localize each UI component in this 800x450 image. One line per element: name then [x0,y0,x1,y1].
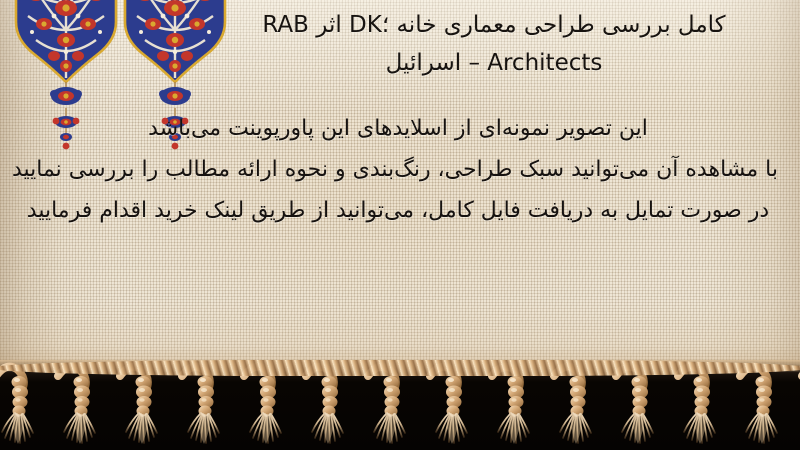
slide-canvas: کامل بررسی طراحی معماری خانه ؛DK اثر RAB… [0,0,800,450]
slide-title-rtl-a: کامل بررسی طراحی معماری خانه ؛ [382,12,726,38]
body-line: این تصویر نمونه‌ای از اسلایدهای این پاور… [18,108,778,149]
slide-title-latin-rab: RAB [262,12,309,38]
slide-body: این تصویر نمونه‌ای از اسلایدهای این پاور… [18,108,778,231]
slide-title-latin-architects: Architects [487,50,602,76]
carpet-fringe [0,360,800,450]
text-layer: کامل بررسی طراحی معماری خانه ؛DK اثر RAB… [0,0,800,372]
carpet-selvedge-rope [0,360,800,376]
slide-title-rtl-country: اسرائیل [386,50,462,76]
slide-title-rtl-b: اثر [309,12,349,38]
body-line: با مشاهده آن می‌توانید سبک طراحی، رنگ‌بن… [18,149,778,190]
slide-title-latin-dk: DK [349,12,382,38]
slide-title-line1: کامل بررسی طراحی معماری خانه ؛DK اثر RAB [262,12,725,38]
slide-title-line2: Architects – اسرائیل [386,50,603,76]
slide-title: کامل بررسی طراحی معماری خانه ؛DK اثر RAB… [214,6,774,82]
slide-title-dash: – [468,50,480,76]
body-line: در صورت تمایل به دریافت فایل کامل، می‌تو… [18,190,778,231]
